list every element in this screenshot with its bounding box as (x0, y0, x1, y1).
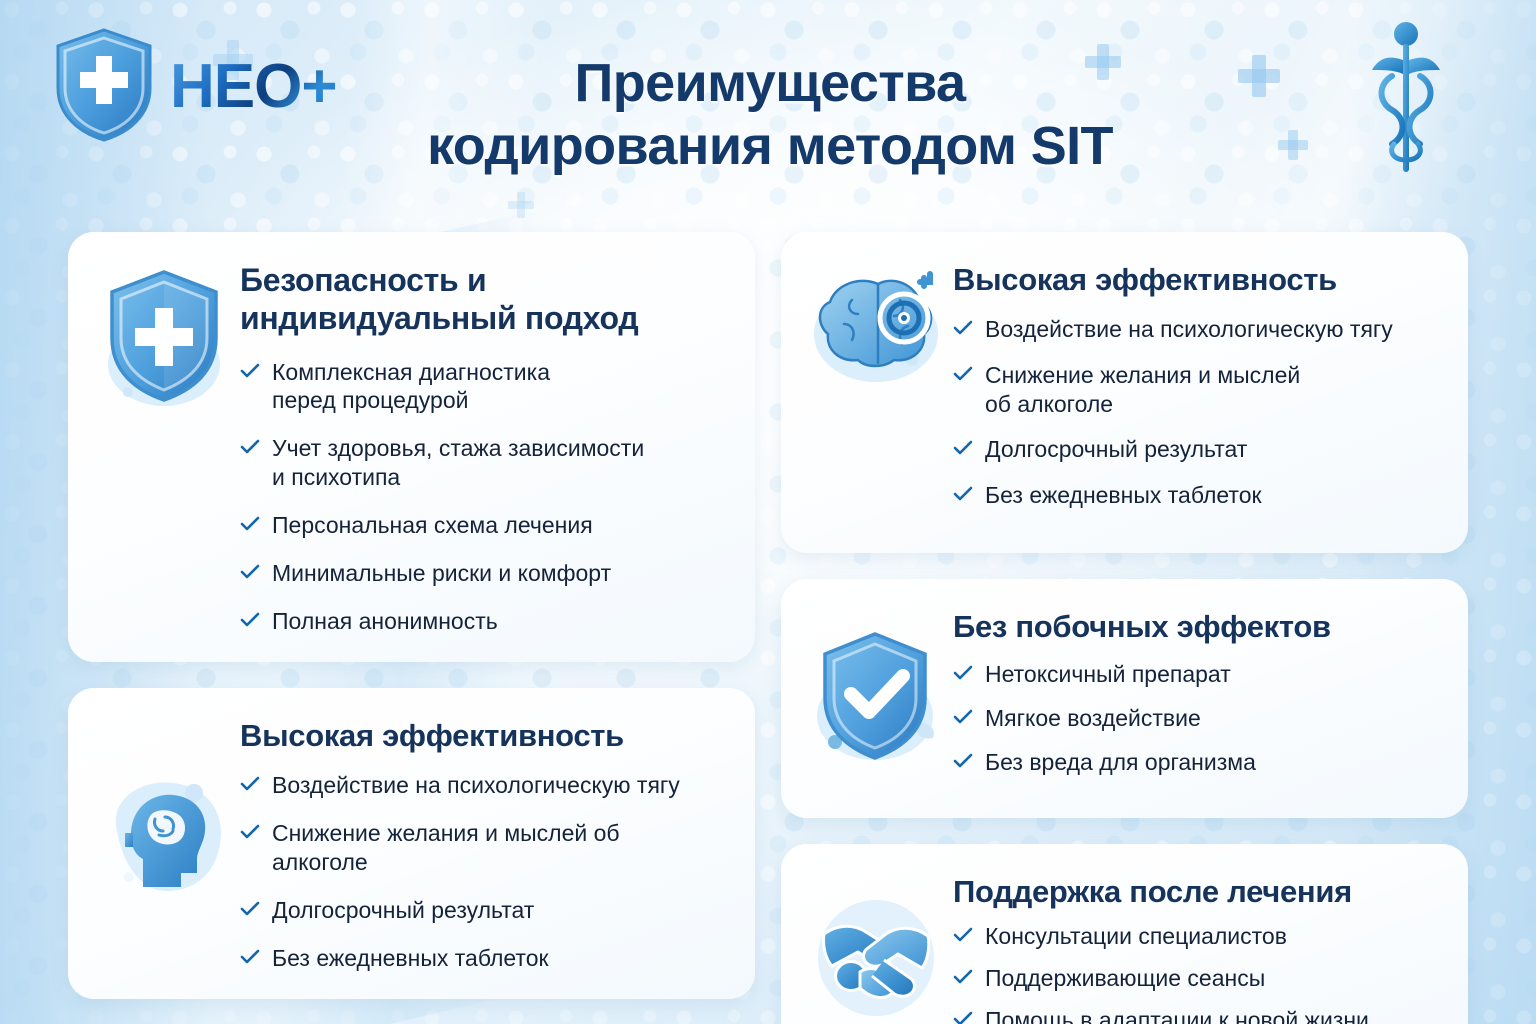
card-effectiveness-right[interactable]: Высокая эффективность Воздействие на пси… (781, 232, 1468, 553)
card-body: Поддержка после лечения Консультации спе… (953, 870, 1440, 1024)
head-brain-icon (95, 773, 235, 913)
card-effectiveness-left[interactable]: Высокая эффективность Воздействие на пси… (68, 688, 755, 998)
check-icon (953, 1011, 973, 1024)
card-body: Высокая эффективность Воздействие на пси… (953, 258, 1440, 527)
card-icon-wrap (90, 714, 240, 972)
check-icon (953, 927, 973, 943)
list-item-label: Долгосрочный результат (272, 896, 534, 925)
check-icon (240, 949, 260, 965)
list-item-label: Нетоксичный препарат (985, 660, 1231, 689)
check-icon (953, 440, 973, 456)
check-icon (953, 709, 973, 725)
list-item-label: Персональная схема лечения (272, 511, 593, 540)
check-icon (240, 564, 260, 580)
bullet-list: Комплексная диагностика перед процедурой… (240, 358, 727, 637)
list-item: Персональная схема лечения (240, 511, 727, 540)
list-item-label: Воздействие на психологическую тягу (272, 771, 680, 800)
list-item: Поддерживающие сеансы (953, 964, 1440, 993)
check-icon (953, 320, 973, 336)
list-item: Учет здоровья, стажа зависимости и психо… (240, 434, 727, 492)
brand-logo-text: НЕО+ (170, 56, 337, 118)
card-title: Безопасность и индивидуальный подход (240, 262, 727, 338)
card-icon-wrap (803, 870, 953, 1024)
page-title: Преимущества кодирования методом SIT (320, 52, 1220, 177)
check-icon (240, 612, 260, 628)
check-icon (240, 363, 260, 379)
check-icon (240, 516, 260, 532)
right-column: Высокая эффективность Воздействие на пси… (781, 232, 1468, 1024)
shield-cross-icon (52, 26, 156, 144)
shield-cross-icon (100, 264, 230, 414)
card-title: Высокая эффективность (953, 262, 1440, 299)
list-item: Консультации специалистов (953, 922, 1440, 951)
list-item: Минимальные риски и комфорт (240, 559, 727, 588)
list-item-label: Долгосрочный результат (985, 435, 1247, 464)
shield-check-icon (809, 624, 947, 774)
cards-grid: Безопасность и индивидуальный подход Ком… (0, 232, 1536, 1024)
list-item: Воздействие на психологическую тягу (240, 771, 727, 800)
card-aftercare[interactable]: Поддержка после лечения Консультации спе… (781, 844, 1468, 1024)
bullet-list: Воздействие на психологическую тягу Сниж… (240, 771, 727, 973)
list-item-label: Снижение желания и мыслей об алкоголе (272, 819, 620, 877)
list-item-label: Снижение желания и мыслей об алкоголе (985, 361, 1300, 419)
list-item: Мягкое воздействие (953, 704, 1440, 733)
card-icon-wrap (803, 258, 953, 527)
check-icon (240, 776, 260, 792)
list-item-label: Без вреда для организма (985, 748, 1256, 777)
list-item: Снижение желания и мыслей об алкоголе (240, 819, 727, 877)
bullet-list: Воздействие на психологическую тягу Сниж… (953, 315, 1440, 511)
list-item: Без вреда для организма (953, 748, 1440, 777)
bullet-list: Консультации специалистов Поддерживающие… (953, 922, 1440, 1024)
card-no-side-effects[interactable]: Без побочных эффектов Нетоксичный препар… (781, 579, 1468, 817)
card-icon-wrap (90, 258, 240, 636)
list-item-label: Без ежедневных таблеток (985, 481, 1262, 510)
card-icon-wrap (803, 605, 953, 791)
list-item: Долгосрочный результат (953, 435, 1440, 464)
card-body: Высокая эффективность Воздействие на пси… (240, 714, 727, 972)
infographic-poster: НЕО+ Преимущества кодирования методом SI… (0, 0, 1536, 1024)
left-column: Безопасность и индивидуальный подход Ком… (68, 232, 755, 1024)
list-item-label: Консультации специалистов (985, 922, 1287, 951)
list-item-label: Мягкое воздействие (985, 704, 1201, 733)
list-item: Без ежедневных таблеток (240, 944, 727, 973)
list-item-label: Полная анонимность (272, 607, 498, 636)
check-icon (953, 753, 973, 769)
bullet-list: Нетоксичный препарат Мягкое воздействие … (953, 660, 1440, 777)
check-icon (953, 486, 973, 502)
list-item: Полная анонимность (240, 607, 727, 636)
card-title: Поддержка после лечения (953, 874, 1440, 911)
check-icon (240, 824, 260, 840)
list-item: Помощь в адаптации к новой жизни (953, 1006, 1440, 1024)
brain-target-icon (808, 264, 948, 394)
list-item: Нетоксичный препарат (953, 660, 1440, 689)
list-item: Долгосрочный результат (240, 896, 727, 925)
list-item: Комплексная диагностика перед процедурой (240, 358, 727, 416)
card-body: Без побочных эффектов Нетоксичный препар… (953, 605, 1440, 791)
page-title-line2: кодирования методом SIT (320, 115, 1220, 178)
list-item-label: Учет здоровья, стажа зависимости и психо… (272, 434, 644, 492)
handshake-icon (810, 894, 946, 1024)
caduceus-icon (1368, 18, 1444, 178)
check-icon (953, 665, 973, 681)
check-icon (240, 439, 260, 455)
list-item: Снижение желания и мыслей об алкоголе (953, 361, 1440, 419)
list-item-label: Комплексная диагностика перед процедурой (272, 358, 550, 416)
check-icon (953, 969, 973, 985)
poster-header: НЕО+ Преимущества кодирования методом SI… (0, 0, 1536, 210)
page-title-line1: Преимущества (320, 52, 1220, 115)
list-item-label: Воздействие на психологическую тягу (985, 315, 1393, 344)
list-item: Без ежедневных таблеток (953, 481, 1440, 510)
list-item-label: Поддерживающие сеансы (985, 964, 1265, 993)
card-title: Высокая эффективность (240, 718, 727, 755)
check-icon (953, 366, 973, 382)
brand-lockup: НЕО+ (52, 26, 337, 144)
card-title: Без побочных эффектов (953, 609, 1440, 646)
list-item: Воздействие на психологическую тягу (953, 315, 1440, 344)
list-item-label: Минимальные риски и комфорт (272, 559, 611, 588)
check-icon (240, 901, 260, 917)
card-body: Безопасность и индивидуальный подход Ком… (240, 258, 727, 636)
list-item-label: Без ежедневных таблеток (272, 944, 549, 973)
list-item-label: Помощь в адаптации к новой жизни (985, 1006, 1369, 1024)
card-safety[interactable]: Безопасность и индивидуальный подход Ком… (68, 232, 755, 662)
